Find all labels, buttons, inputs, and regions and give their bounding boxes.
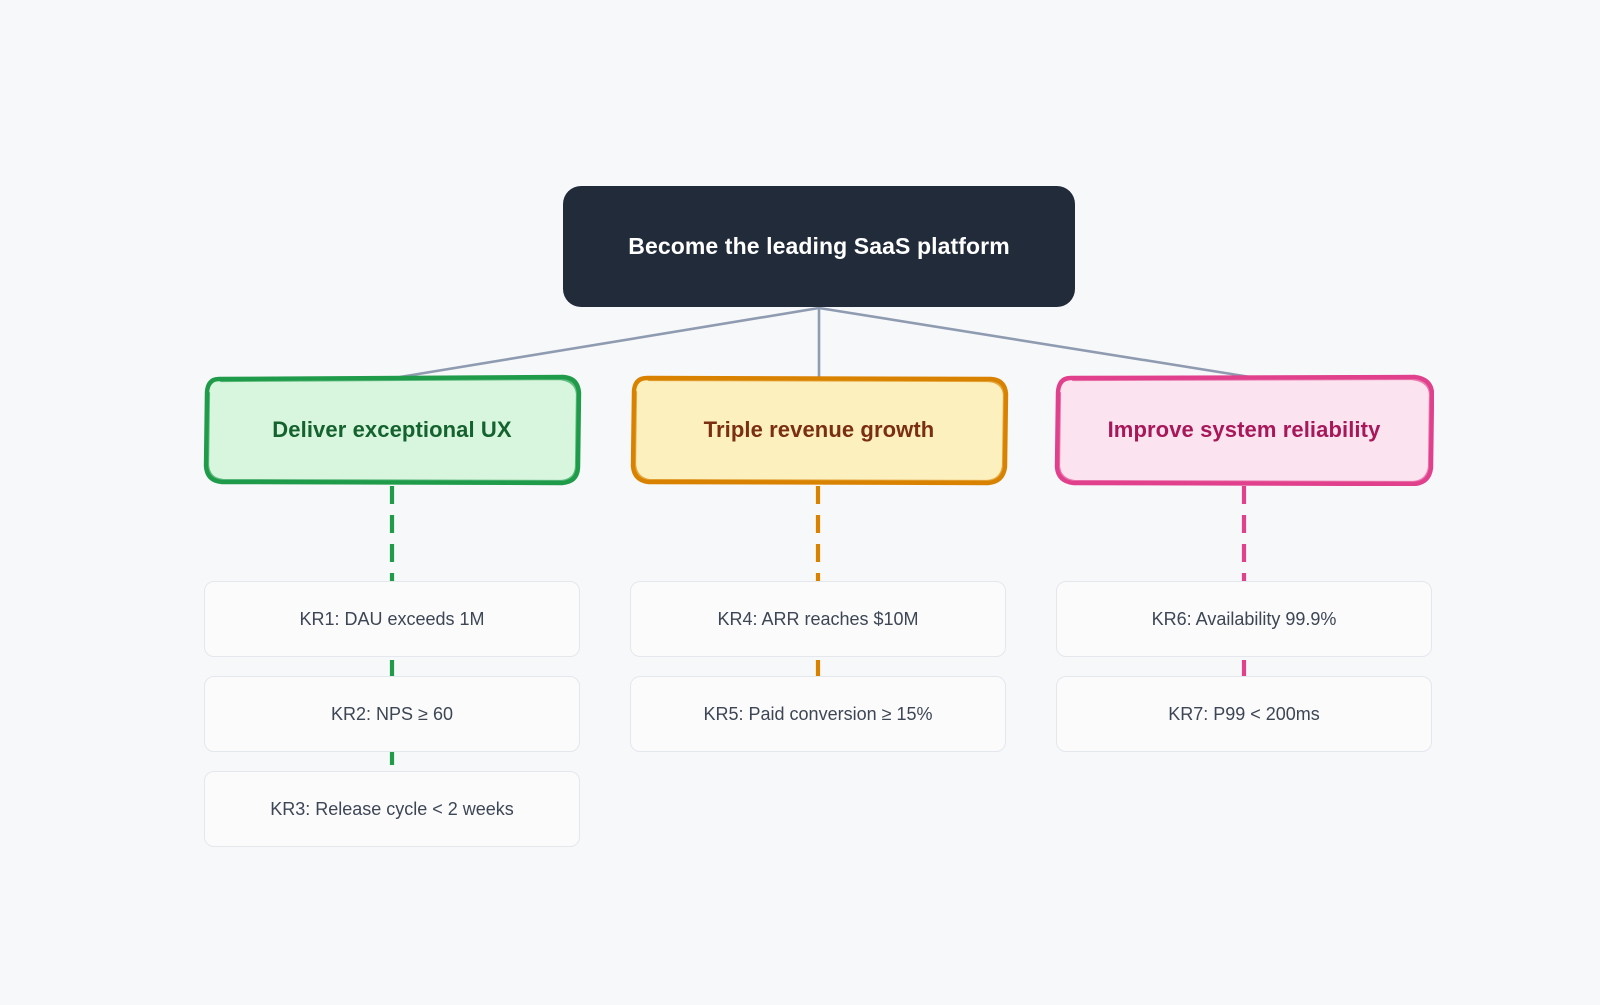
key-result-label: KR5: Paid conversion ≥ 15% — [704, 704, 933, 725]
edge-root-to-reliability — [819, 308, 1250, 377]
key-result-label: KR6: Availability 99.9% — [1152, 609, 1337, 630]
key-result-node[interactable]: KR3: Release cycle < 2 weeks — [204, 771, 580, 847]
key-result-label: KR2: NPS ≥ 60 — [331, 704, 453, 725]
objective-node-ux[interactable]: Deliver exceptional UX — [202, 374, 582, 486]
key-result-label: KR4: ARR reaches $10M — [717, 609, 918, 630]
key-result-label: KR3: Release cycle < 2 weeks — [270, 799, 514, 820]
root-objective-label: Become the leading SaaS platform — [628, 233, 1010, 260]
okr-diagram-canvas: Become the leading SaaS platform Deliver… — [0, 0, 1600, 1005]
objective-node-reliability[interactable]: Improve system reliability — [1054, 374, 1434, 486]
key-result-node[interactable]: KR6: Availability 99.9% — [1056, 581, 1432, 657]
key-result-node[interactable]: KR7: P99 < 200ms — [1056, 676, 1432, 752]
key-result-node[interactable]: KR5: Paid conversion ≥ 15% — [630, 676, 1006, 752]
key-result-node[interactable]: KR4: ARR reaches $10M — [630, 581, 1006, 657]
edge-layer — [0, 0, 1600, 1005]
objective-node-revenue[interactable]: Triple revenue growth — [629, 374, 1009, 486]
key-result-node[interactable]: KR1: DAU exceeds 1M — [204, 581, 580, 657]
key-result-label: KR1: DAU exceeds 1M — [299, 609, 484, 630]
objective-label-reliability: Improve system reliability — [1094, 417, 1395, 443]
root-objective-node[interactable]: Become the leading SaaS platform — [563, 186, 1075, 307]
key-result-node[interactable]: KR2: NPS ≥ 60 — [204, 676, 580, 752]
objective-label-ux: Deliver exceptional UX — [258, 417, 525, 443]
key-result-label: KR7: P99 < 200ms — [1168, 704, 1320, 725]
objective-label-revenue: Triple revenue growth — [690, 417, 949, 443]
edge-root-to-ux — [400, 308, 819, 377]
